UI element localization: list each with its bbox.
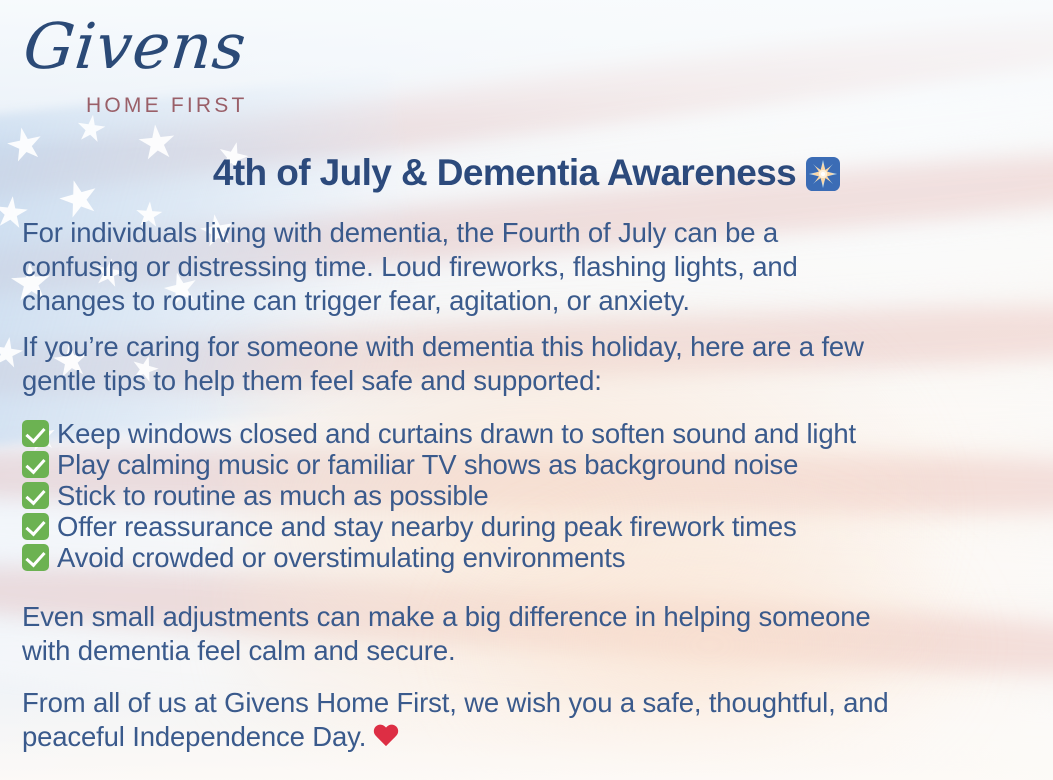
white-check-mark-emoji [22,513,49,540]
white-check-mark-emoji [22,451,49,478]
list-item: Keep windows closed and curtains drawn t… [22,418,1037,449]
paragraph-line: For individuals living with dementia, th… [22,216,1037,250]
white-check-mark-emoji [22,544,49,571]
tips-checklist: Keep windows closed and curtains drawn t… [22,418,1037,573]
logo-script-wordmark: Givens [20,10,250,83]
paragraph-line: gentle tips to help them feel safe and s… [22,364,1037,398]
paragraph-line: confusing or distressing time. Loud fire… [22,250,1037,284]
list-item-label: Offer reassurance and stay nearby during… [57,511,797,542]
fireworks-sparkler-emoji [806,157,840,200]
list-item: Stick to routine as much as possible [22,480,1037,511]
closing-paragraph: Even small adjustments can make a big di… [22,600,1037,668]
paragraph-line: If you’re caring for someone with dement… [22,330,1037,364]
tips-lead-in-paragraph: If you’re caring for someone with dement… [22,330,1037,398]
list-item: Offer reassurance and stay nearby during… [22,511,1037,542]
logo-tagline: HOME FIRST [86,94,248,118]
paragraph-line: peaceful Independence Day. [22,721,366,752]
signoff-paragraph: From all of us at Givens Home First, we … [22,686,1037,754]
givens-home-first-logo: Givens HOME FIRST [18,14,288,122]
page-title: 4th of July & Dementia Awareness [0,152,1053,200]
list-item-label: Avoid crowded or overstimulating environ… [57,542,625,573]
list-item: Avoid crowded or overstimulating environ… [22,542,1037,573]
white-check-mark-emoji [22,420,49,447]
list-item-label: Keep windows closed and curtains drawn t… [57,418,856,449]
paragraph-line: From all of us at Givens Home First, we … [22,686,1037,720]
list-item-label: Play calming music or familiar TV shows … [57,449,798,480]
paragraph-line: with dementia feel calm and secure. [22,634,1037,668]
list-item-label: Stick to routine as much as possible [57,480,488,511]
list-item: Play calming music or familiar TV shows … [22,449,1037,480]
paragraph-line: changes to routine can trigger fear, agi… [22,284,1037,318]
intro-paragraph: For individuals living with dementia, th… [22,216,1037,318]
white-check-mark-emoji [22,482,49,509]
red-heart-emoji [373,725,399,749]
social-graphic-canvas: Givens HOME FIRST 4th of July & Dementia… [0,0,1053,780]
paragraph-line: Even small adjustments can make a big di… [22,600,1037,634]
paragraph-line-with-heart: peaceful Independence Day. [22,720,1037,754]
page-title-text: 4th of July & Dementia Awareness [213,152,796,193]
